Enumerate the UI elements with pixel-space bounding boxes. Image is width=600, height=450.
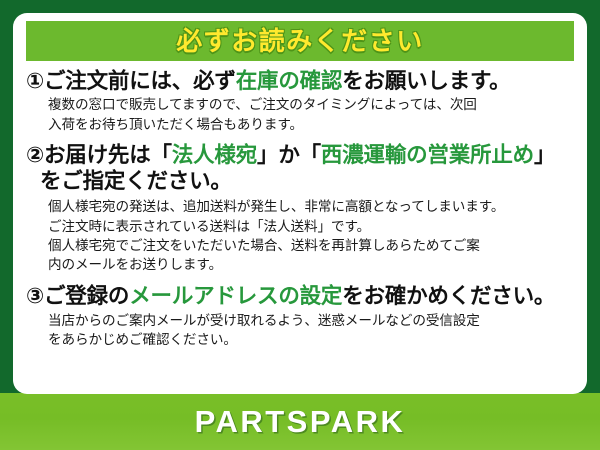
section-2-heading-part-0: ②お届け先は「 [26, 143, 172, 167]
section-2-body-line-0: 個人様宅宛の発送は、追加送料が発生し、非常に高額となってしまいます。 [48, 197, 577, 216]
section-3-body-line-0: 当店からのご案内メールが受け取れるよう、迷惑メールなどの受信設定 [48, 311, 577, 330]
section-2-heading-highlight-2: 西濃運輸の営業所止め [321, 143, 534, 167]
section-3-heading: ③ご登録のメールアドレスの設定をお確かめください。 [26, 283, 577, 309]
notice-banner: PARTSPARK 必ずお読みください ①ご注文前には、必ず在庫の確認をお願いし… [0, 0, 600, 450]
footer-bar: PARTSPARK [0, 393, 600, 450]
brand-logo-partspark: PARTSPARK [195, 406, 406, 437]
section-2-heading-highlight-1: 法人様宛 [172, 143, 257, 167]
section-3-heading-highlight: メールアドレスの設定 [129, 284, 342, 308]
notice-section-2: ②お届け先は「法人様宛」か「西濃運輸の営業所止め」 をご指定ください。 個人様宅… [26, 142, 577, 275]
notice-section-1: ①ご注文前には、必ず在庫の確認をお願いします。 複数の窓口で販売してますので、ご… [26, 68, 577, 134]
notice-content: ①ご注文前には、必ず在庫の確認をお願いします。 複数の窓口で販売してますので、ご… [13, 61, 587, 349]
section-2-heading-part-4: 」 [534, 143, 555, 167]
page-title: 必ずお読みください [176, 28, 424, 54]
section-1-heading-part-0: ①ご注文前には、必ず [26, 69, 236, 93]
section-2-body-line-3: 内のメールをお送りします。 [48, 255, 577, 274]
notice-section-3: ③ご登録のメールアドレスの設定をお確かめください。 当店からのご案内メールが受け… [26, 283, 577, 349]
section-3-body: 当店からのご案内メールが受け取れるよう、迷惑メールなどの受信設定 をあらかじめご… [48, 311, 577, 350]
section-2-heading-line-2: をご指定ください。 [40, 168, 577, 194]
section-1-heading-highlight: 在庫の確認 [236, 69, 343, 93]
section-2-heading: ②お届け先は「法人様宛」か「西濃運輸の営業所止め」 をご指定ください。 [26, 142, 577, 194]
section-3-body-line-1: をあらかじめご確認ください。 [48, 330, 577, 349]
title-bar: 必ずお読みください [26, 21, 574, 61]
section-3-heading-part-0: ③ご登録の [26, 284, 129, 308]
section-1-body-line-1: 入荷をお待ち頂いただく場合もあります。 [48, 115, 577, 134]
section-3-heading-part-2: をお確かめください。 [342, 284, 555, 308]
section-1-heading-part-2: をお願いします。 [342, 69, 510, 93]
notice-card: 必ずお読みください ①ご注文前には、必ず在庫の確認をお願いします。 複数の窓口で… [13, 13, 587, 394]
section-1-body-line-0: 複数の窓口で販売してますので、ご注文のタイミングによっては、次回 [48, 95, 577, 114]
section-2-body: 個人様宅宛の発送は、追加送料が発生し、非常に高額となってしまいます。 ご注文時に… [48, 197, 577, 274]
section-1-heading: ①ご注文前には、必ず在庫の確認をお願いします。 [26, 68, 577, 94]
section-1-body: 複数の窓口で販売してますので、ご注文のタイミングによっては、次回 入荷をお待ち頂… [48, 95, 577, 134]
section-2-heading-part-2: 」か「 [257, 143, 321, 167]
section-2-body-line-1: ご注文時に表示されている送料は「法人送料」です。 [48, 217, 577, 236]
section-2-body-line-2: 個人様宅宛でご注文をいただいた場合、送料を再計算しあらためてご案 [48, 236, 577, 255]
